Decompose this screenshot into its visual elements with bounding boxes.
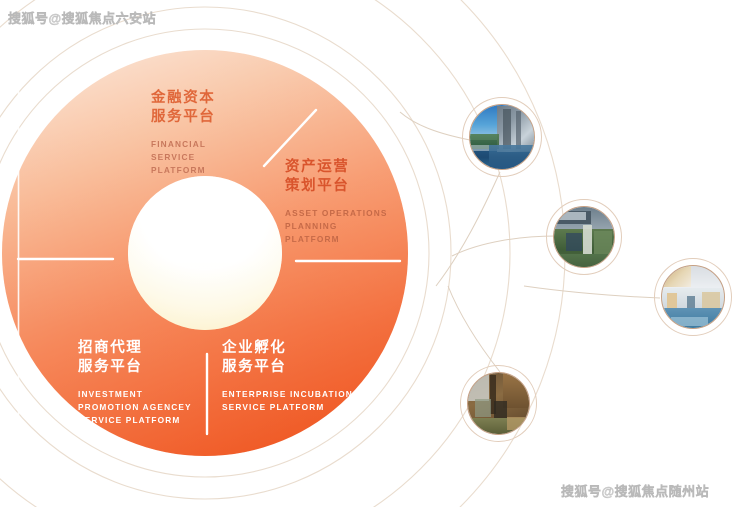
asset-label-en-line2: PLANNING — [285, 220, 388, 233]
quadrant-label-investment-promotion: 招商代理 服务平台 INVESTMENT PROMOTION AGENCEY S… — [78, 339, 192, 427]
financial-label-en-line1: FINANCIAL — [151, 138, 215, 151]
enterprise-label-en-line2: SERVICE PLATFORM — [222, 401, 353, 414]
workshop-interior-photo[interactable] — [467, 372, 530, 435]
investment-label-cn-line2: 服务平台 — [78, 358, 192, 377]
quadrant-label-enterprise-incubation: 企业孵化 服务平台 ENTERPRISE INCUBATION SERVICE … — [222, 339, 353, 414]
asset-label-cn-line2: 策划平台 — [285, 177, 388, 196]
enterprise-label-cn-line2: 服务平台 — [222, 358, 353, 377]
financial-label-cn-line1: 金融资本 — [151, 89, 215, 108]
financial-label-en-line3: PLATFORM — [151, 164, 215, 177]
quadrant-label-asset-operations: 资产运营 策划平台 ASSET OPERATIONS PLANNING PLAT… — [285, 158, 388, 246]
investment-label-en-line2: PROMOTION AGENCEY — [78, 401, 192, 414]
watermark-bottom-right: 搜狐号@搜狐焦点随州站 — [561, 481, 709, 500]
financial-label-en-line2: SERVICE — [151, 151, 215, 164]
investment-label-en-line3: SERVICE PLATFORM — [78, 414, 192, 427]
enterprise-label-cn-line1: 企业孵化 — [222, 339, 353, 358]
asset-label-cn-line1: 资产运营 — [285, 158, 388, 177]
watermark-top-left: 搜狐号@搜狐焦点六安站 — [8, 8, 156, 27]
service-platform-donut-diagram — [0, 0, 740, 507]
asset-label-en-line3: PLATFORM — [285, 233, 388, 246]
investment-label-cn-line1: 招商代理 — [78, 339, 192, 358]
asset-label-en-line1: ASSET OPERATIONS — [285, 207, 388, 220]
investment-label-en-line1: INVESTMENT — [78, 388, 192, 401]
atrium-interior-photo[interactable] — [661, 265, 725, 329]
donut-core-glow — [128, 176, 282, 330]
financial-label-cn-line2: 服务平台 — [151, 108, 215, 127]
street-signage-photo[interactable] — [553, 206, 615, 268]
enterprise-label-en-line1: ENTERPRISE INCUBATION — [222, 388, 353, 401]
diagram-canvas: 金融资本 服务平台 FINANCIAL SERVICE PLATFORM 资产运… — [0, 0, 740, 507]
quadrant-label-financial: 金融资本 服务平台 FINANCIAL SERVICE PLATFORM — [151, 89, 215, 177]
building-waterfront-photo[interactable] — [469, 104, 535, 170]
